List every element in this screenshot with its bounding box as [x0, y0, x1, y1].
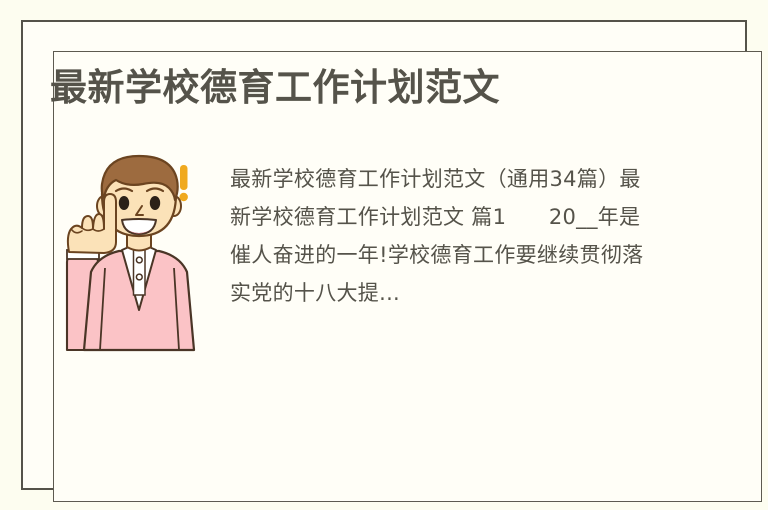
page-title: 最新学校德育工作计划范文 [50, 66, 500, 110]
shirt-placket [134, 249, 146, 295]
exclamation-mark-icon [180, 165, 188, 201]
eye-right [150, 196, 160, 210]
shirt-button-top [136, 257, 142, 263]
illustration-svg [64, 150, 214, 365]
shirt-button-bottom [136, 274, 142, 280]
article-content: 最新学校德育工作计划范文（通用34篇）最新学校德育工作计划范文 篇1 20__年… [50, 148, 690, 408]
eye-left [119, 196, 129, 210]
pointing-hand [67, 194, 116, 259]
hand [68, 194, 116, 253]
man-pointing-up-illustration [64, 150, 214, 365]
article-excerpt: 最新学校德育工作计划范文（通用34篇）最新学校德育工作计划范文 篇1 20__年… [230, 160, 660, 312]
article-card-page: 最新学校德育工作计划范文 [0, 0, 768, 510]
